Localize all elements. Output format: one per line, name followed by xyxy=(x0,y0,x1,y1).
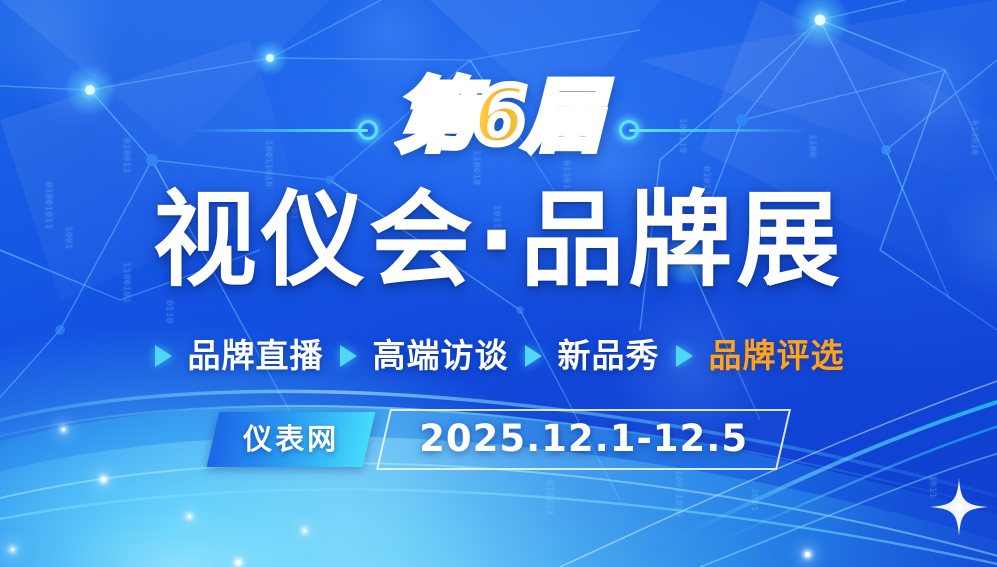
date-range-box: 2025.12.1-12.5 xyxy=(376,409,791,470)
subtitle-item-live[interactable]: 品牌直播 xyxy=(181,333,331,379)
triangle-right-icon xyxy=(155,345,172,367)
date-range-label: 2025.12.1-12.5 xyxy=(419,419,748,459)
subtitle-row: 品牌直播 高端访谈 新品秀 品牌评选 xyxy=(0,333,997,379)
event-banner: 01001011 1001 010011 1100101 0110 100110… xyxy=(0,0,997,567)
triangle-right-icon xyxy=(525,345,542,367)
triangle-right-icon xyxy=(676,345,693,367)
brand-tag[interactable]: 仪表网 xyxy=(207,412,376,467)
date-bar: 仪表网 2025.12.1-12.5 xyxy=(0,409,997,470)
subtitle-item-interview[interactable]: 高端访谈 xyxy=(366,333,516,379)
brand-tag-label: 仪表网 xyxy=(243,421,339,457)
star-sparkle-icon xyxy=(930,478,988,536)
page-title: 视仪会·品牌展 xyxy=(0,176,997,304)
subtitle-item-award[interactable]: 品牌评选 xyxy=(702,333,852,379)
edition-badge-text: 第6届 xyxy=(396,72,600,162)
triangle-right-icon xyxy=(340,345,357,367)
subtitle-item-newproduct[interactable]: 新品秀 xyxy=(551,333,667,379)
edition-badge: 第6届 xyxy=(0,72,997,162)
